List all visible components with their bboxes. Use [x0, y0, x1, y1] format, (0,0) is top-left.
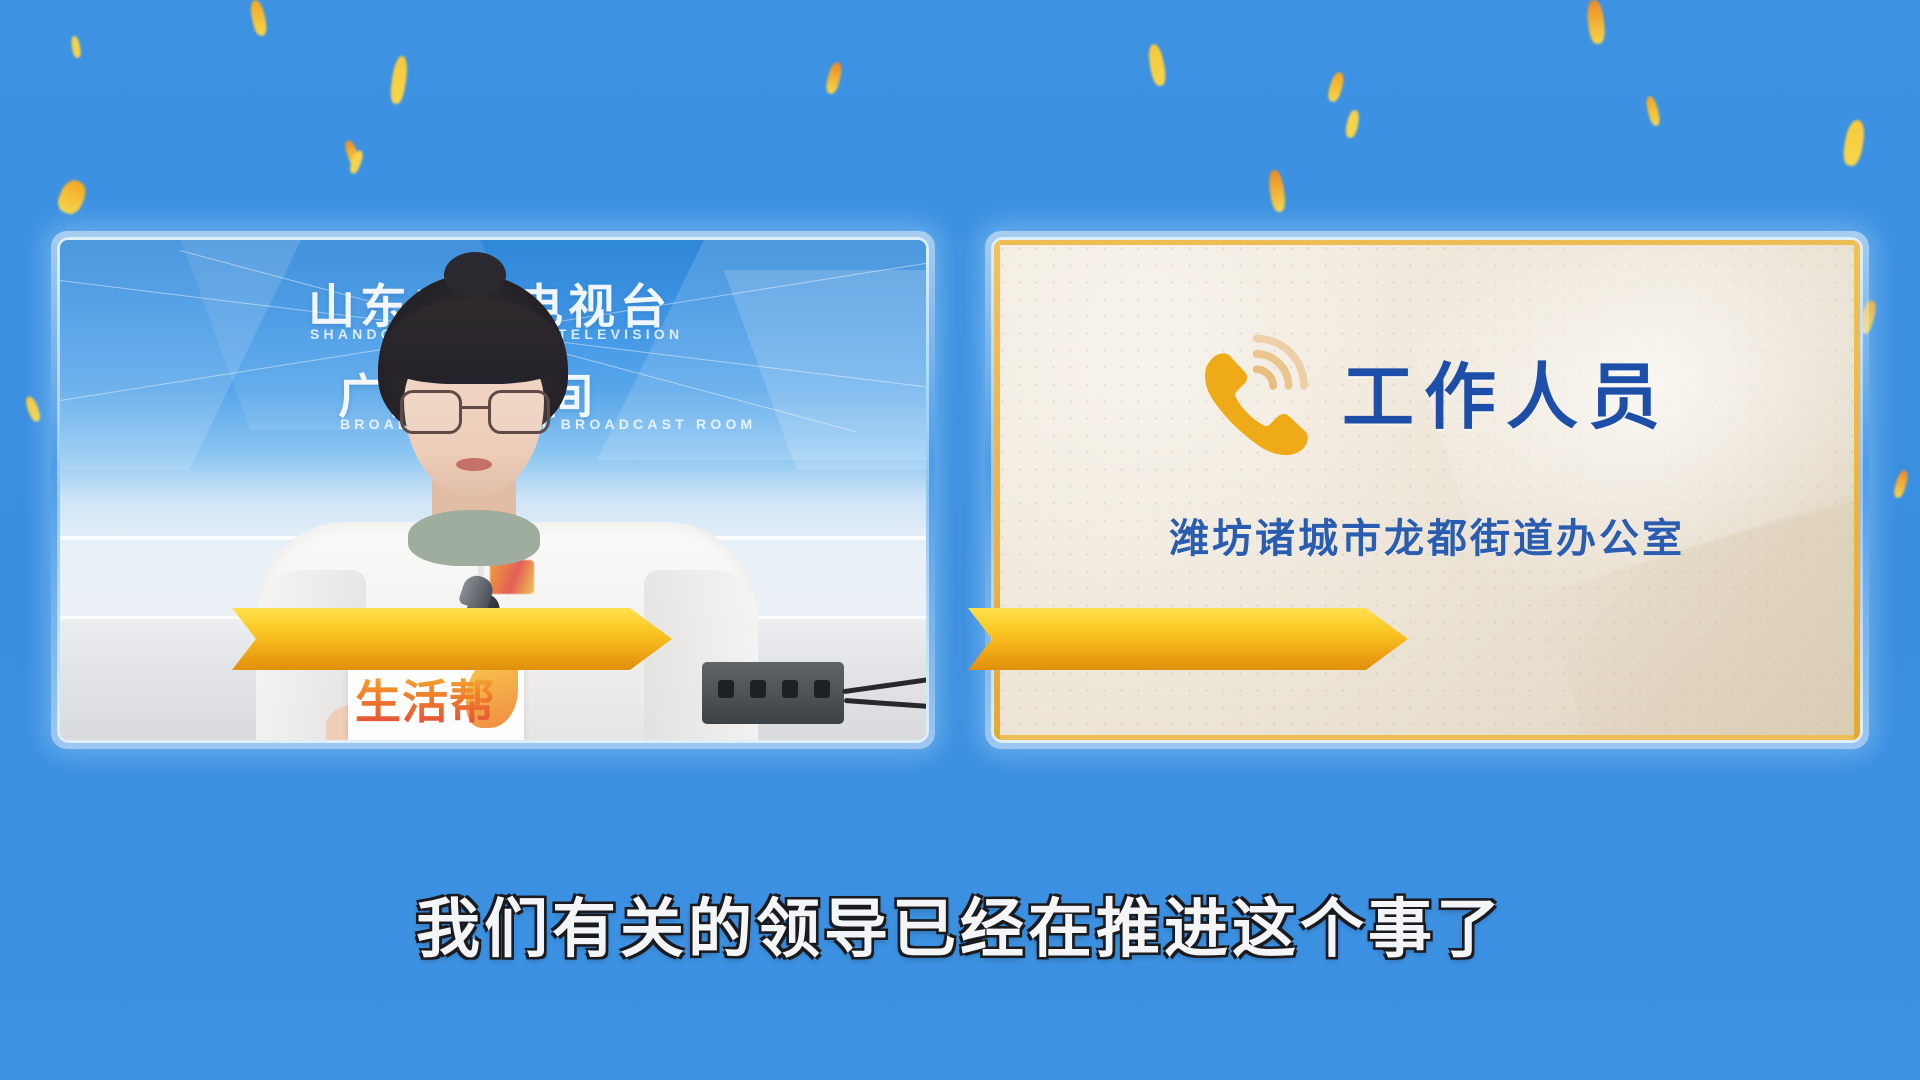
- confetti-piece: [389, 55, 410, 104]
- confetti-piece: [1586, 0, 1607, 45]
- host-inner-collar: [408, 510, 540, 566]
- confetti-piece: [343, 139, 361, 167]
- confetti-piece: [1892, 469, 1909, 499]
- confetti-piece: [1645, 95, 1662, 127]
- glasses-lens-left: [400, 390, 462, 434]
- info-card-edge-top: [994, 240, 1860, 245]
- confetti-piece: [1267, 169, 1287, 213]
- confetti-piece: [70, 35, 82, 58]
- device-port-3: [782, 680, 798, 698]
- confetti-piece: [824, 61, 843, 95]
- confetti-piece: [1344, 109, 1361, 139]
- device-port-1: [718, 680, 734, 698]
- confetti-piece: [54, 177, 90, 218]
- confetti-piece: [1146, 43, 1167, 87]
- subtitle-caption: 我们有关的领导已经在推进这个事了: [0, 878, 1920, 970]
- audio-interface-device: [702, 662, 844, 724]
- split-screen-panels: 山东广播电视台 SHANDONG RADIO AND TELEVISION 广播…: [60, 240, 1860, 800]
- device-port-4: [814, 680, 830, 698]
- caller-organization: 潍坊诸城市龙都街道办公室: [1169, 506, 1685, 564]
- phone-call-icon: [1184, 332, 1316, 464]
- info-card-title-row: 工作人员: [1184, 332, 1670, 464]
- host-hair-bun: [444, 252, 506, 298]
- info-card-content: 工作人员 潍坊诸城市龙都街道办公室: [994, 332, 1860, 564]
- host-lips: [456, 458, 492, 471]
- glasses-bridge: [462, 406, 488, 409]
- glasses-lens-right: [488, 390, 550, 434]
- left-banner-arrow: [232, 608, 672, 670]
- broadcast-stage: 山东广播电视台 SHANDONG RADIO AND TELEVISION 广播…: [0, 0, 1920, 1080]
- confetti-piece: [1841, 119, 1867, 167]
- confetti-piece: [1326, 71, 1346, 103]
- desk-sign-text: 生活帮: [355, 666, 496, 732]
- caller-role-title: 工作人员: [1342, 362, 1670, 434]
- right-banner-arrow: [968, 608, 1408, 670]
- confetti-piece: [248, 0, 268, 37]
- device-port-2: [750, 680, 766, 698]
- host-glasses: [400, 390, 550, 434]
- confetti-piece: [348, 149, 365, 175]
- info-card-edge-bottom: [994, 735, 1860, 740]
- confetti-piece: [24, 395, 42, 423]
